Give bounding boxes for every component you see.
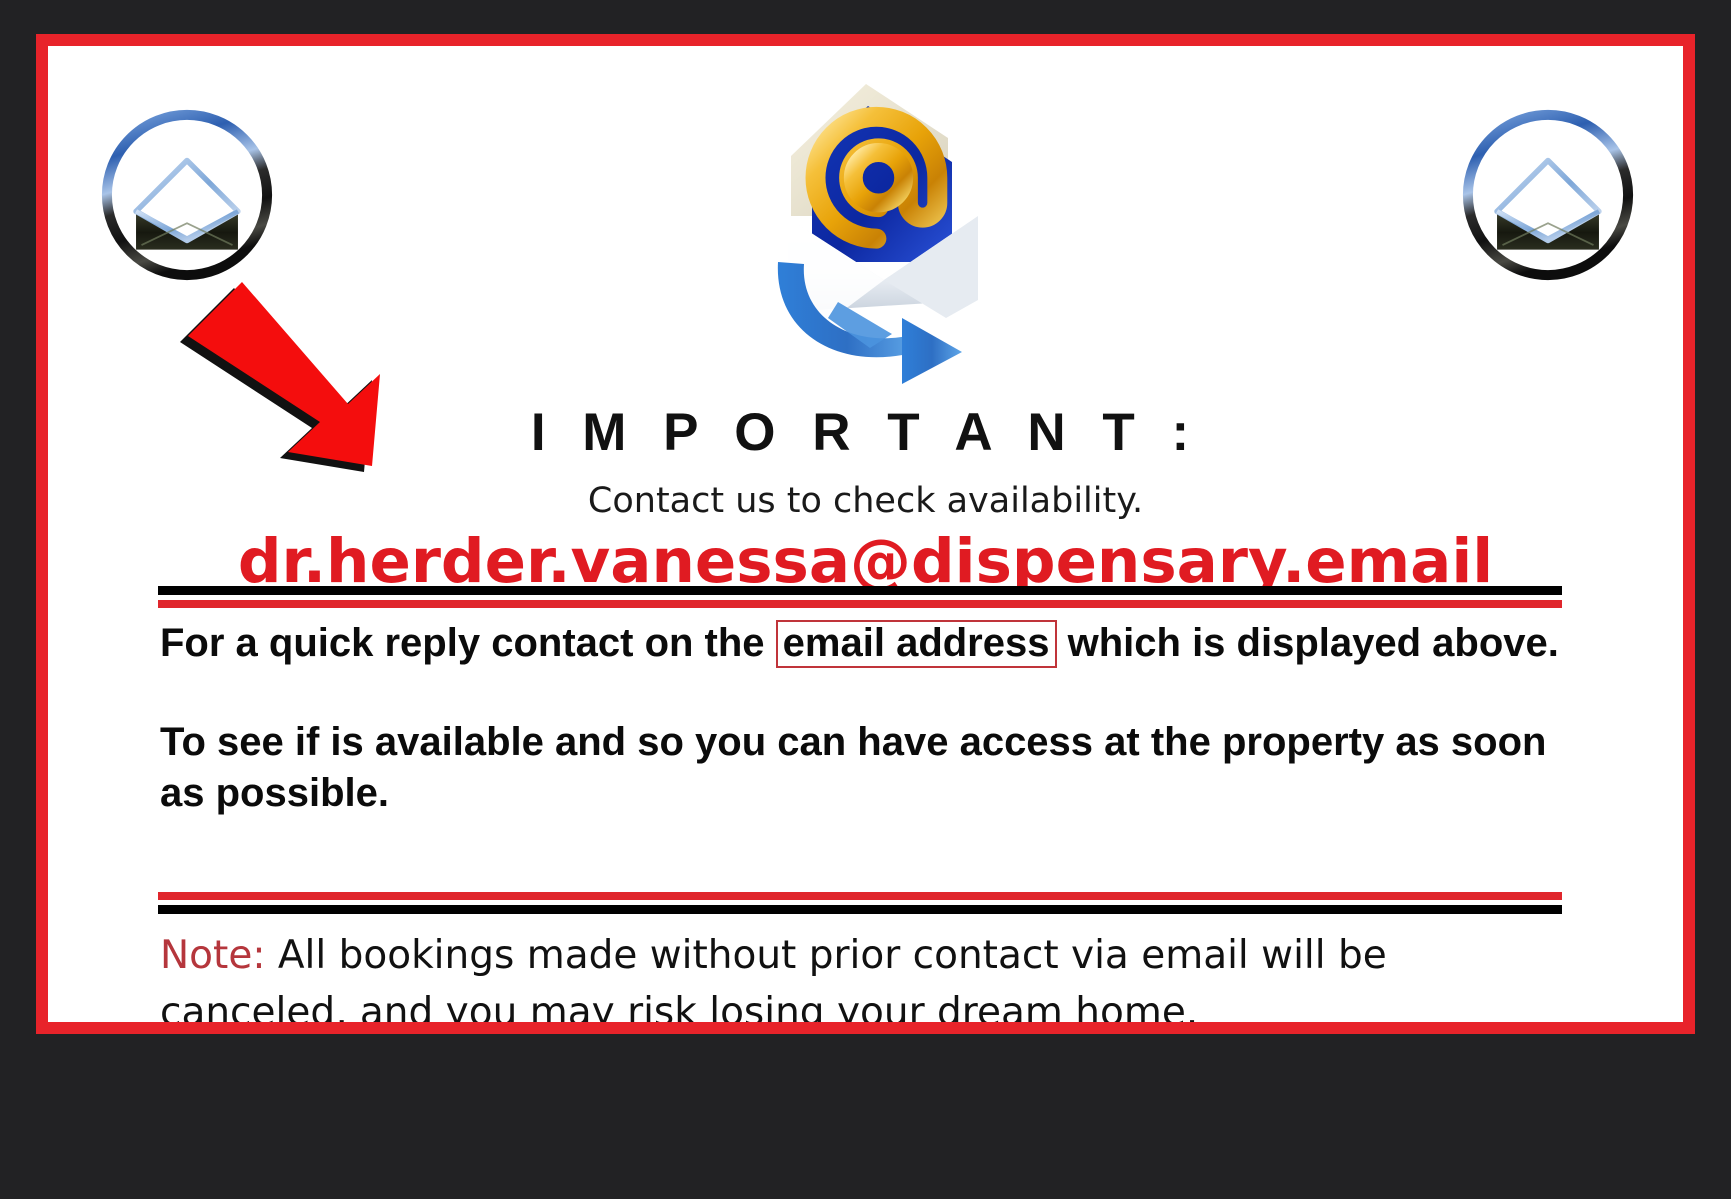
note-text: All bookings made without prior contact … <box>160 933 1387 1022</box>
envelope-in-circle-icon-right <box>1457 104 1639 286</box>
body-copy: For a quick reply contact on the email a… <box>160 618 1560 820</box>
paragraph-one-lead: For a quick reply contact on the <box>160 621 776 665</box>
paragraph-one: For a quick reply contact on the email a… <box>160 618 1560 669</box>
page-title: I M P O R T A N T : <box>48 402 1683 463</box>
divider-top <box>158 586 1562 608</box>
boxed-email-address-term: email address <box>776 620 1057 668</box>
divider-red-line-bottom <box>158 892 1562 900</box>
flyer-root: I M P O R T A N T : Contact us to check … <box>0 0 1731 1199</box>
divider-black-line-bottom <box>158 905 1562 914</box>
at-symbol-envelope-icon <box>716 66 1016 386</box>
paragraph-two: To see if is available and so you can ha… <box>160 717 1560 819</box>
flyer-card: I M P O R T A N T : Contact us to check … <box>48 46 1683 1022</box>
divider-bottom <box>158 892 1562 914</box>
divider-black-line <box>158 586 1562 595</box>
paragraph-one-tail: which is displayed above. <box>1057 621 1559 665</box>
envelope-in-circle-icon <box>96 104 278 286</box>
note-block: Note: All bookings made without prior co… <box>160 928 1580 1022</box>
divider-red-line <box>158 600 1562 608</box>
page-subtitle: Contact us to check availability. <box>48 481 1683 521</box>
red-border-frame: I M P O R T A N T : Contact us to check … <box>36 34 1695 1034</box>
red-down-right-arrow-icon <box>176 276 436 496</box>
note-label: Note: <box>160 933 265 978</box>
